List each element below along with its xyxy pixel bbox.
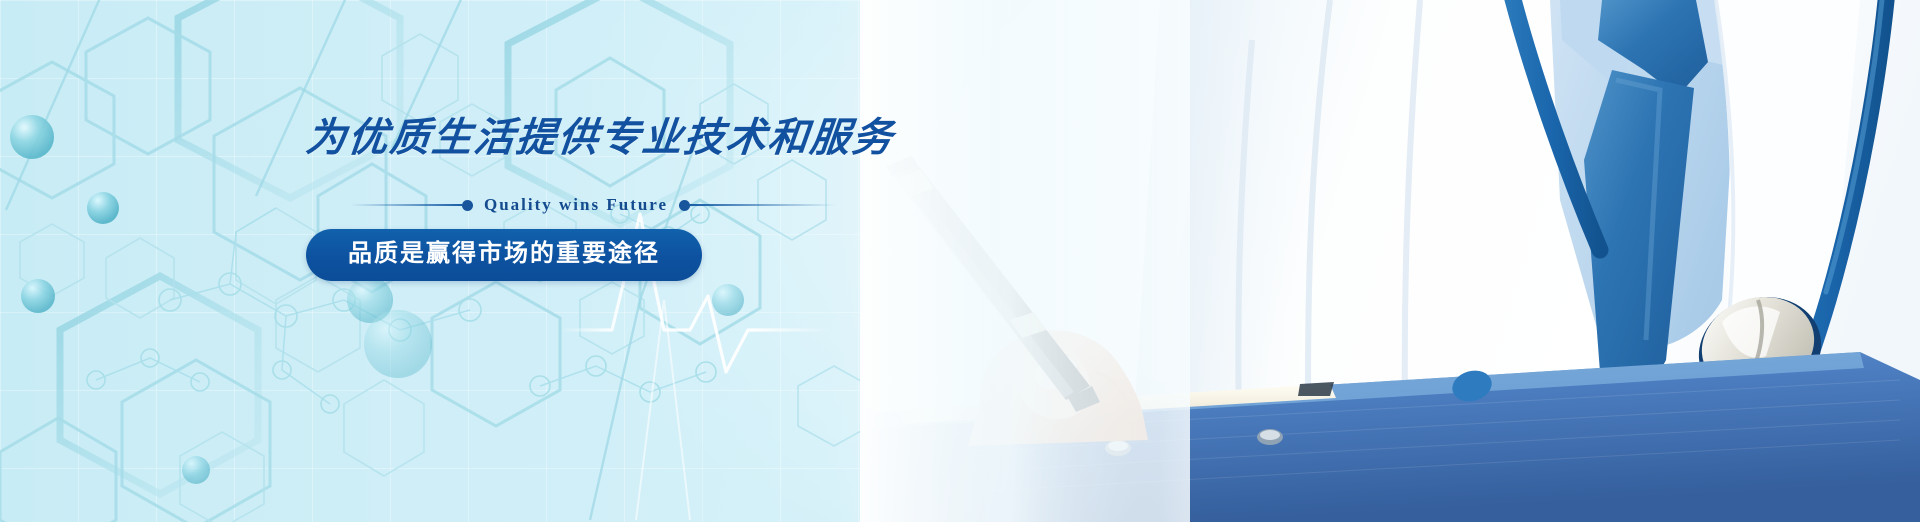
page-title: 为优质生活提供专业技术和服务 [304,118,1008,158]
gradient-rule-right-icon [690,204,836,206]
decor-sphere-1 [10,115,54,159]
gradient-rule-left-icon [350,204,462,206]
bullet-dot-right-icon [679,200,690,211]
decor-sphere-3 [21,279,55,313]
slogan-pill-button[interactable]: 品质是赢得市场的重要途径 [306,229,702,281]
hero-banner: 为优质生活提供专业技术和服务 Quality wins Future 品质是赢得… [0,0,1920,522]
tagline-text: Quality wins Future [473,195,679,215]
doctor-photo [860,0,1920,522]
decor-sphere-6 [364,310,432,378]
bullet-dot-left-icon [462,200,473,211]
tagline-row: Quality wins Future [306,194,1006,216]
decor-sphere-2 [87,192,119,224]
decor-sphere-5 [712,284,744,316]
banner-content: 为优质生活提供专业技术和服务 Quality wins Future 品质是赢得… [306,118,1006,281]
decor-sphere-7 [182,456,210,484]
